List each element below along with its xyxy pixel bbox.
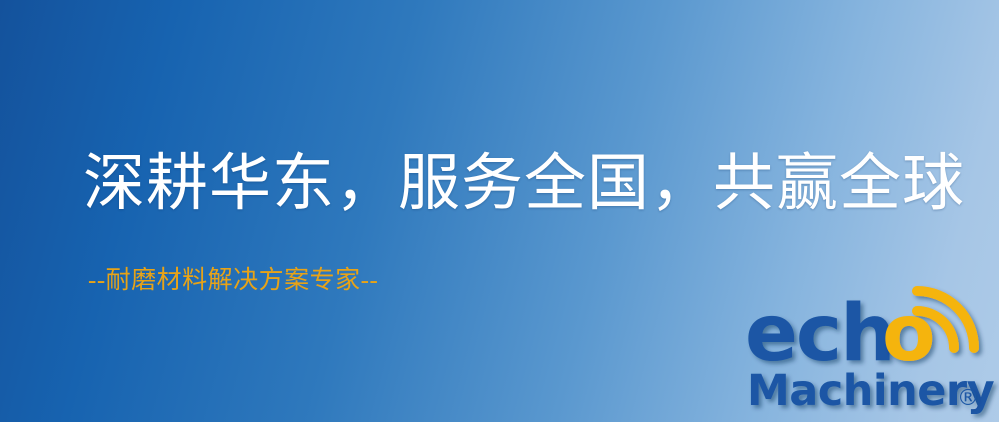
hero-banner: 深耕华东，服务全国，共赢全球 --耐磨材料解决方案专家-- ech o Mach… xyxy=(0,0,999,422)
banner-subtitle: --耐磨材料解决方案专家-- xyxy=(88,267,378,295)
echo-machinery-logo[interactable]: ech o Machinery ® xyxy=(745,292,999,422)
banner-headline: 深耕华东，服务全国，共赢全球 xyxy=(83,152,965,217)
logo-registered-mark: ® xyxy=(957,386,979,411)
